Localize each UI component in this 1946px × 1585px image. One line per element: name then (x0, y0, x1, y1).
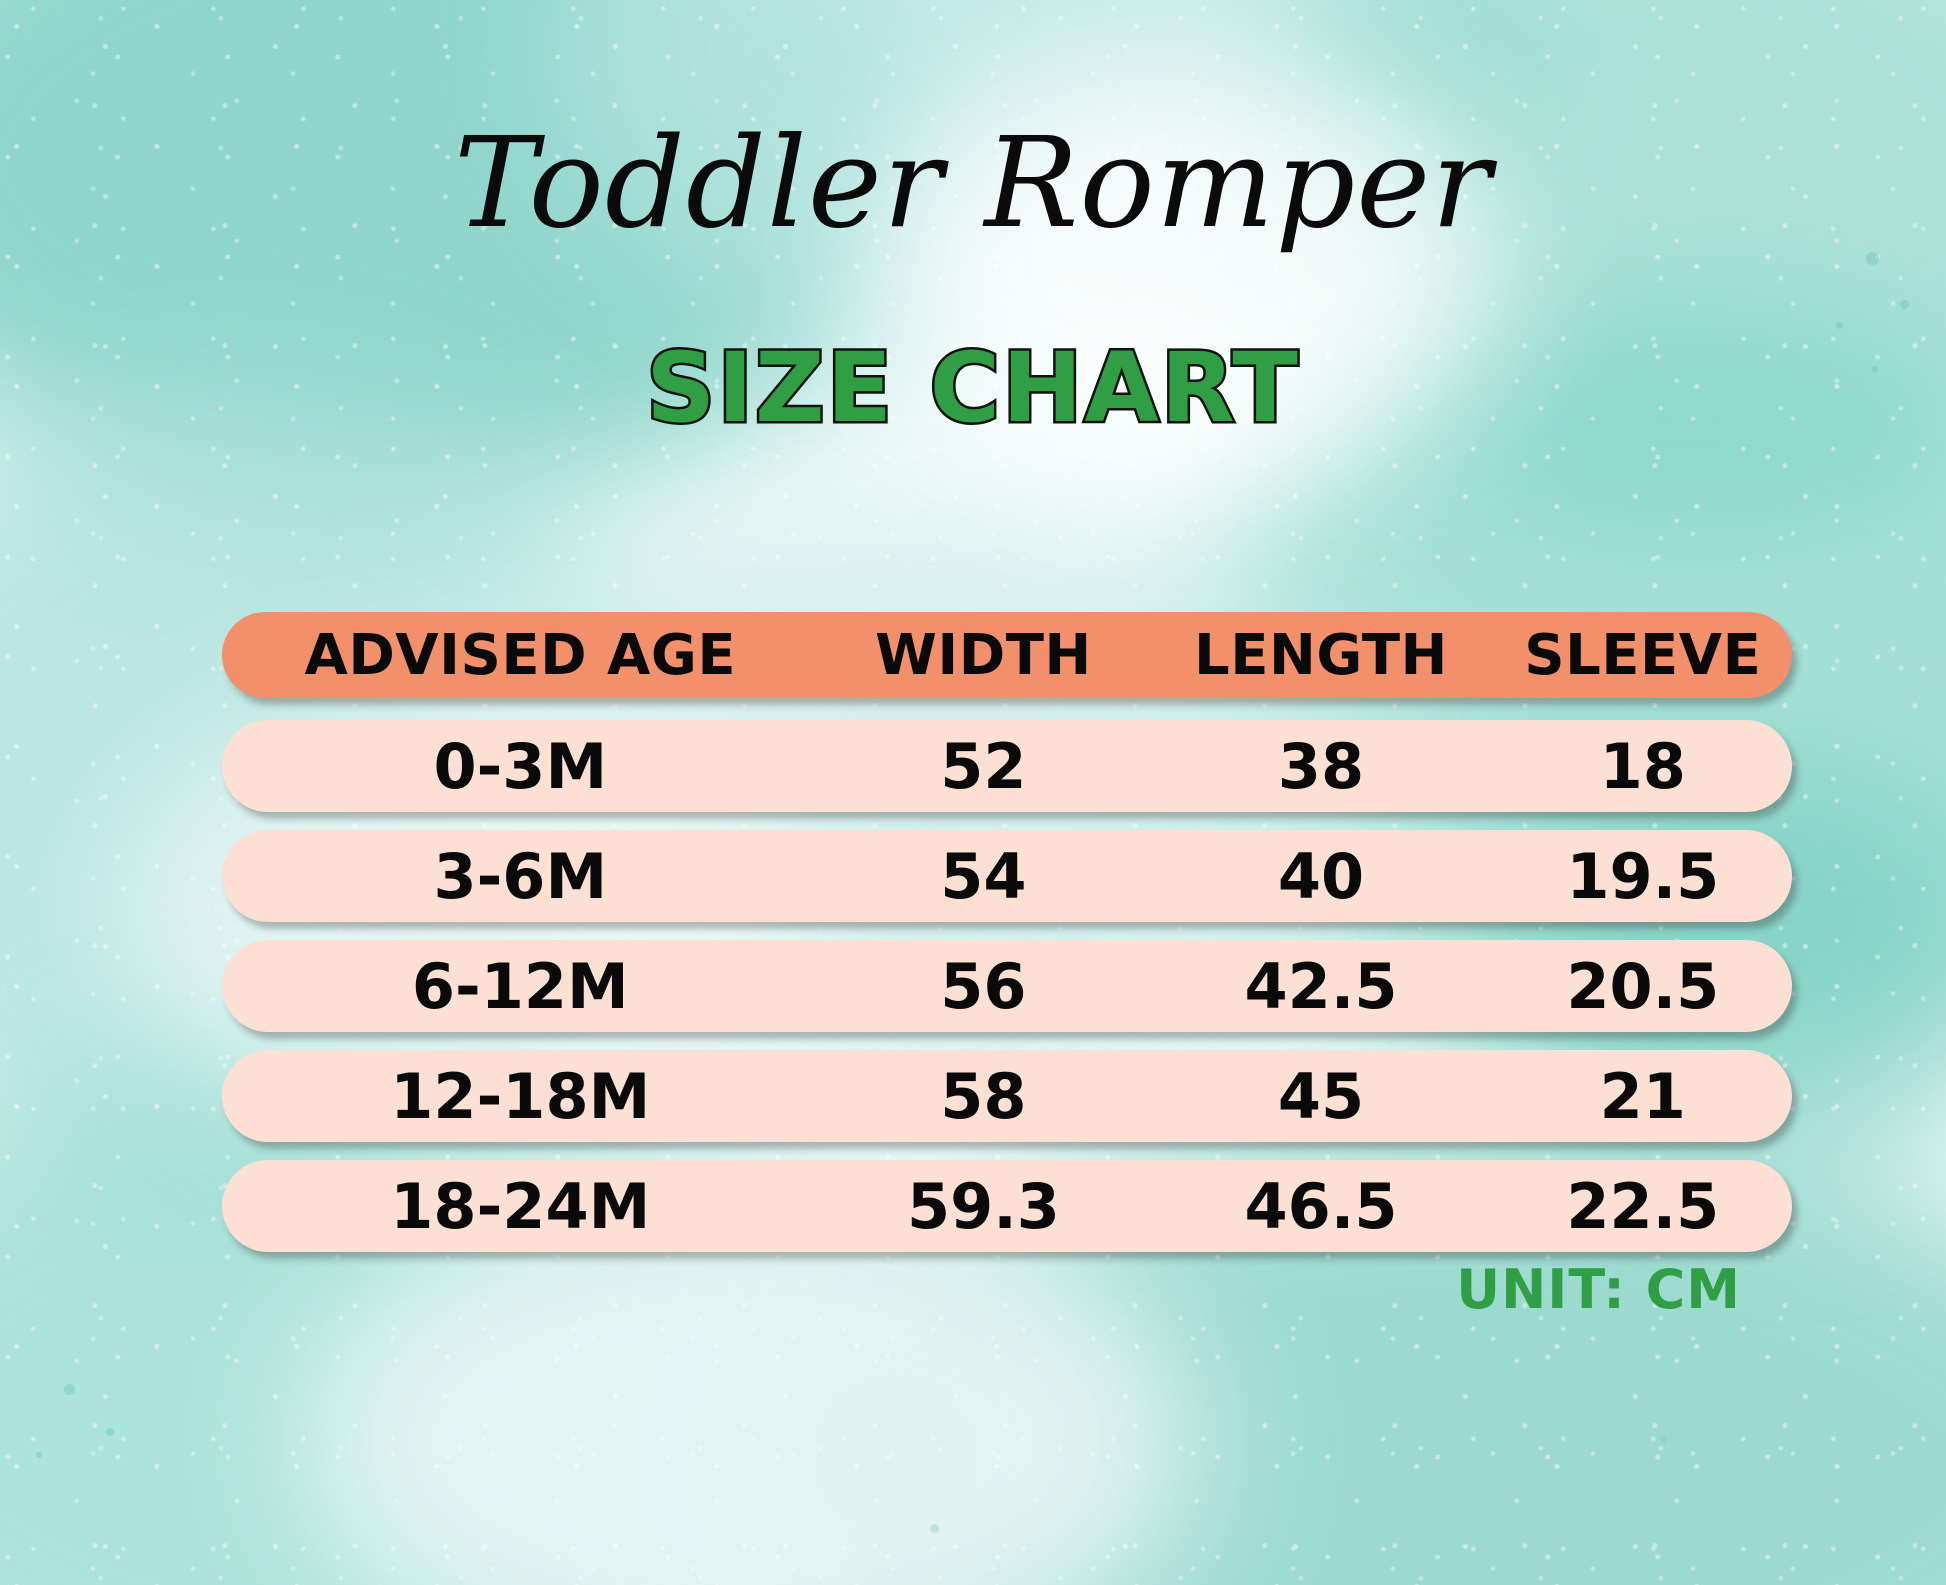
column-header-advised-age: ADVISED AGE (222, 623, 819, 688)
cell-length: 40 (1148, 840, 1493, 913)
cell-advised-age: 18-24M (222, 1170, 819, 1243)
cell-advised-age: 12-18M (222, 1060, 819, 1133)
table-row: 12-18M 58 45 21 (222, 1050, 1792, 1142)
cell-sleeve: 19.5 (1494, 840, 1792, 913)
cell-width: 54 (819, 840, 1149, 913)
cell-width: 58 (819, 1060, 1149, 1133)
column-header-width: WIDTH (819, 623, 1149, 688)
cell-width: 59.3 (819, 1170, 1149, 1243)
page-subtitle: SIZE CHART (0, 340, 1946, 436)
cell-width: 52 (819, 730, 1149, 803)
size-chart-table: ADVISED AGE WIDTH LENGTH SLEEVE 0-3M 52 … (222, 612, 1792, 1270)
cell-sleeve: 22.5 (1494, 1170, 1792, 1243)
cell-length: 45 (1148, 1060, 1493, 1133)
cell-length: 42.5 (1148, 950, 1493, 1023)
cell-advised-age: 3-6M (222, 840, 819, 913)
cell-length: 46.5 (1148, 1170, 1493, 1243)
cell-sleeve: 20.5 (1494, 950, 1792, 1023)
cell-sleeve: 21 (1494, 1060, 1792, 1133)
unit-note: UNIT: CM (1456, 1258, 1741, 1321)
column-header-sleeve: SLEEVE (1494, 623, 1792, 688)
table-row: 0-3M 52 38 18 (222, 720, 1792, 812)
table-row: 18-24M 59.3 46.5 22.5 (222, 1160, 1792, 1252)
column-header-length: LENGTH (1148, 623, 1493, 688)
table-header-row: ADVISED AGE WIDTH LENGTH SLEEVE (222, 612, 1792, 698)
cell-width: 56 (819, 950, 1149, 1023)
cell-advised-age: 6-12M (222, 950, 819, 1023)
cell-length: 38 (1148, 730, 1493, 803)
page-title: Toddler Romper (0, 118, 1946, 249)
table-row: 6-12M 56 42.5 20.5 (222, 940, 1792, 1032)
cell-advised-age: 0-3M (222, 730, 819, 803)
cell-sleeve: 18 (1494, 730, 1792, 803)
table-row: 3-6M 54 40 19.5 (222, 830, 1792, 922)
size-chart-page: Toddler Romper SIZE CHART ADVISED AGE WI… (0, 0, 1946, 1585)
